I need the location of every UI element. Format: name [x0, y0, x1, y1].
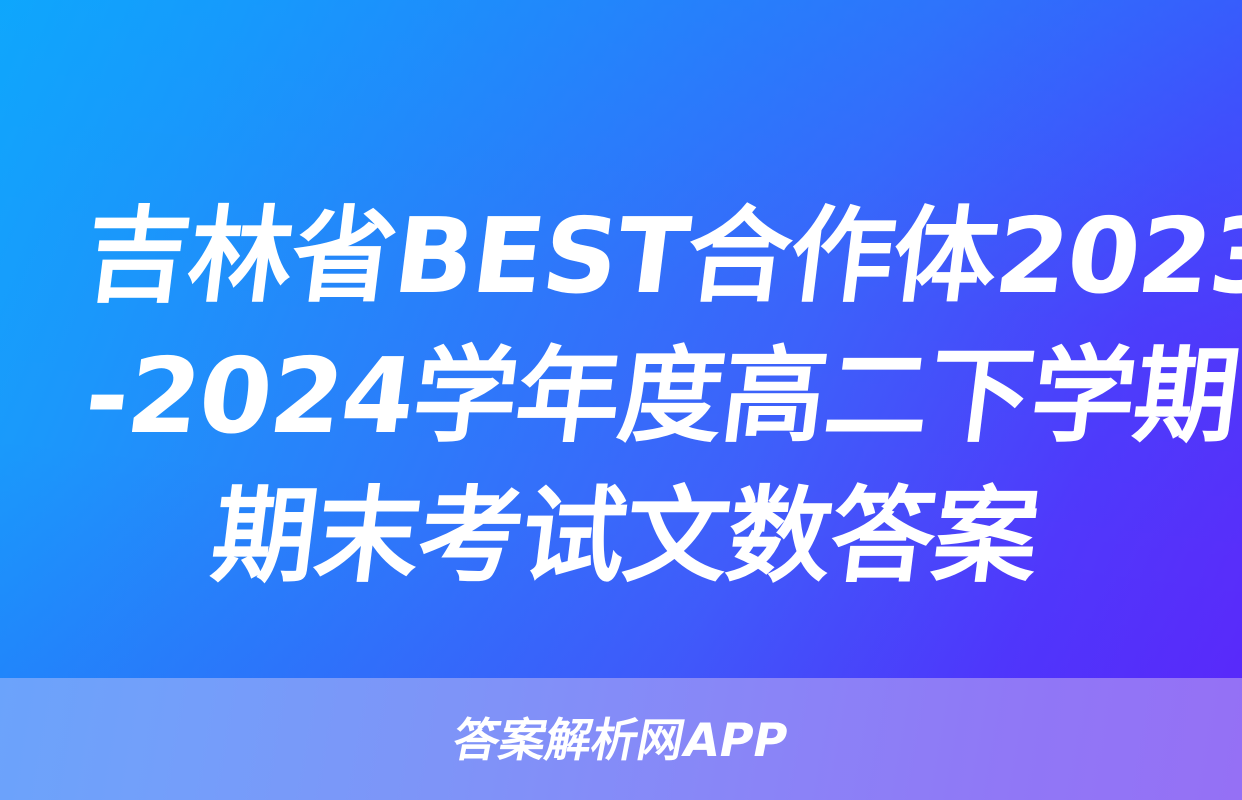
title-line-1: 吉林省BEST合作体2023	[77, 186, 1172, 326]
title-char: 下	[920, 326, 1040, 466]
title-char: 度	[611, 326, 731, 466]
title-line-3: 期末考试文数答案	[77, 466, 1172, 606]
title-char: 年	[508, 326, 628, 466]
title-char: 作	[782, 186, 902, 326]
watermark-band: 答案解析网APP	[0, 678, 1242, 800]
page-title: 吉林省BEST合作体2023 -2024学年度高二下学期 期末考试文数答案	[86, 186, 1164, 606]
title-line-2: -2024学年度高二下学期	[77, 326, 1172, 466]
title-char: 体	[885, 186, 1005, 326]
title-char: 学	[1023, 326, 1143, 466]
title-char: 学	[405, 326, 525, 466]
title-char: 省	[283, 186, 403, 326]
cover-card: 吉林省BEST合作体2023 -2024学年度高二下学期 期末考试文数答案 答案…	[0, 0, 1242, 800]
title-char: 吉	[77, 186, 197, 326]
title-char: 高	[714, 326, 834, 466]
title-char: 二	[817, 326, 937, 466]
watermark-text: 答案解析网APP	[450, 717, 792, 763]
title-char: 林	[180, 186, 300, 326]
hero-gradient-panel: 吉林省BEST合作体2023 -2024学年度高二下学期 期末考试文数答案	[0, 0, 1242, 678]
title-char: 期	[1126, 326, 1242, 466]
title-char: 合	[679, 186, 799, 326]
